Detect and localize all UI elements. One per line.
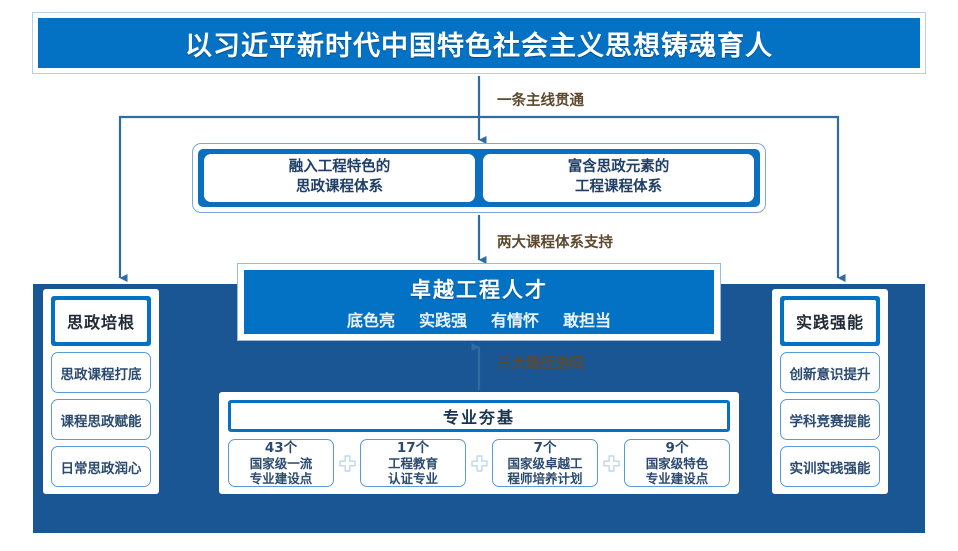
course-system-card-engineering[interactable]: 富含思政元素的 工程课程体系 [483, 154, 754, 202]
page-title-frame: 以习近平新时代中国特色社会主义思想铸魂育人 [32, 12, 926, 74]
major-item-line1: 工程教育 [388, 456, 438, 471]
talent-goal-title: 卓越工程人才 [410, 274, 548, 304]
pillar-right-item-2[interactable]: 学科竞赛提能 [780, 399, 880, 440]
talent-trait: 底色亮 [347, 307, 395, 331]
talent-goal-frame: 卓越工程人才 底色亮 实践强 有情怀 敢担当 [237, 263, 721, 341]
talent-trait-list: 底色亮 实践强 有情怀 敢担当 [347, 307, 611, 331]
major-item-line1: 国家级一流 [250, 456, 313, 471]
major-item-line2: 认证专业 [388, 471, 438, 486]
course-systems-inner: 融入工程特色的 思政课程体系 富含思政元素的 工程课程体系 [198, 149, 760, 207]
plus-icon [466, 439, 492, 487]
pillar-left-header[interactable]: 思政培根 [51, 296, 151, 346]
major-base-card: 专业夯基 43个 国家级一流 专业建设点 17个 工程教育 认证专业 [219, 392, 739, 494]
pillar-left-item-1[interactable]: 思政课程打底 [51, 352, 151, 393]
plus-icon [334, 439, 360, 487]
major-item-count: 43个 [265, 440, 297, 456]
major-item-line2: 程师培养计划 [507, 471, 582, 486]
pillar-left-item-2[interactable]: 课程思政赋能 [51, 399, 151, 440]
page-title: 以习近平新时代中国特色社会主义思想铸魂育人 [185, 24, 773, 63]
major-item-count: 9个 [666, 440, 689, 456]
course-card-line2: 工程课程体系 [575, 178, 662, 198]
pillar-right-item-3[interactable]: 实训实践强能 [780, 446, 880, 487]
course-card-line2: 思政课程体系 [296, 178, 383, 198]
page-title-bar: 以习近平新时代中国特色社会主义思想铸魂育人 [38, 18, 920, 68]
pillar-right-header[interactable]: 实践强能 [780, 296, 880, 346]
pillar-ideological-roots: 思政培根 思政课程打底 课程思政赋能 日常思政润心 [43, 289, 159, 494]
pillar-practice-capability: 实践强能 创新意识提升 学科竞赛提能 实训实践强能 [772, 289, 888, 494]
talent-trait: 实践强 [419, 307, 467, 331]
major-item-line1: 国家级卓越工 [507, 456, 582, 471]
pillar-right-header-label: 实践强能 [784, 300, 876, 342]
major-item-line2: 专业建设点 [250, 471, 313, 486]
nodes-layer: 以习近平新时代中国特色社会主义思想铸魂育人 一条主线贯通 两大课程体系支持 三大… [0, 0, 958, 547]
pillar-left-header-label: 思政培根 [55, 300, 147, 342]
diagram-canvas: 以习近平新时代中国特色社会主义思想铸魂育人 一条主线贯通 两大课程体系支持 三大… [0, 0, 958, 547]
major-base-item-3[interactable]: 7个 国家级卓越工 程师培养计划 [492, 439, 598, 487]
course-systems-group: 融入工程特色的 思政课程体系 富含思政元素的 工程课程体系 [192, 143, 766, 213]
major-base-header[interactable]: 专业夯基 [228, 400, 730, 432]
major-item-count: 17个 [397, 440, 429, 456]
pillar-right-item-1[interactable]: 创新意识提升 [780, 352, 880, 393]
connector-label-two-systems: 两大课程体系支持 [497, 231, 613, 252]
major-item-line1: 国家级特色 [646, 456, 709, 471]
major-base-item-2[interactable]: 17个 工程教育 认证专业 [360, 439, 466, 487]
major-item-count: 7个 [534, 440, 557, 456]
course-card-line1: 富含思政元素的 [568, 158, 670, 178]
major-base-item-4[interactable]: 9个 国家级特色 专业建设点 [624, 439, 730, 487]
talent-trait: 敢担当 [563, 307, 611, 331]
talent-trait: 有情怀 [491, 307, 539, 331]
major-base-item-1[interactable]: 43个 国家级一流 专业建设点 [228, 439, 334, 487]
plus-icon [598, 439, 624, 487]
major-base-item-row: 43个 国家级一流 专业建设点 17个 工程教育 认证专业 [228, 439, 730, 487]
major-item-line2: 专业建设点 [646, 471, 709, 486]
course-card-line1: 融入工程特色的 [289, 158, 391, 178]
pillar-left-item-3[interactable]: 日常思政润心 [51, 446, 151, 487]
connector-label-three-paths: 三大路径协同 [497, 352, 584, 373]
course-system-card-ideological[interactable]: 融入工程特色的 思政课程体系 [204, 154, 475, 202]
connector-label-main-line: 一条主线贯通 [497, 89, 584, 110]
major-base-header-label: 专业夯基 [443, 404, 515, 428]
talent-goal-box[interactable]: 卓越工程人才 底色亮 实践强 有情怀 敢担当 [244, 270, 714, 334]
